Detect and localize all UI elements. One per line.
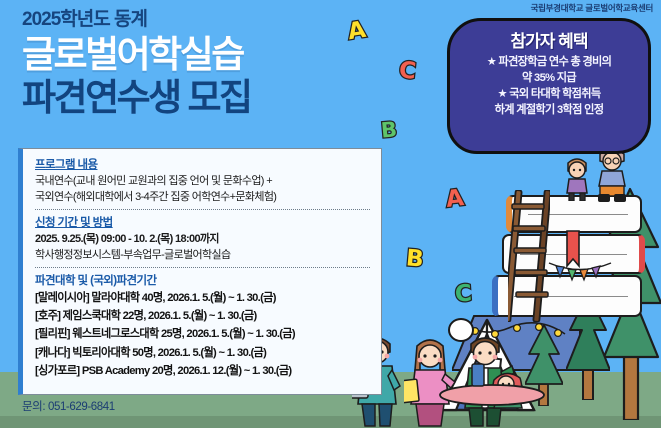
decor-letter-b-green: B — [380, 119, 398, 141]
decor-letter-b-yellow: B — [405, 247, 424, 271]
section-application: 신청 기간 및 방법 2025. 9.25.(목) 09:00 - 10. 2.… — [35, 214, 370, 263]
university-row: [싱가포르] PSB Academy 20명, 2026.1. 12.(월) ~… — [35, 362, 370, 380]
program-heading: 프로그램 내용 — [35, 156, 370, 172]
headline-title-line1: 글로벌어학실습 — [22, 33, 251, 77]
benefits-line-3: ★ 국외 타대학 학점취득 — [458, 87, 640, 103]
benefits-line-1: ★ 파견장학금 연수 총 경비의 — [458, 55, 640, 71]
university-row: [캐나다] 빅토리아대학 50명, 2026.1. 5.(월) ~ 1. 30.… — [35, 344, 370, 362]
application-heading: 신청 기간 및 방법 — [35, 214, 370, 230]
divider-2 — [35, 267, 370, 268]
university-row: [호주] 제임스쿡대학 22명, 2026.1. 5.(월) ~ 1. 30.(… — [35, 307, 370, 325]
cup-icon — [470, 362, 486, 388]
university-row: [말레이시아] 말라야대학 40명, 2026.1. 5.(월) ~ 1. 30… — [35, 289, 370, 307]
program-line-2: 국외연수(해외대학에서 3-4주간 집중 어학연수+문화체험) — [35, 189, 370, 205]
section-dispatch: 파견대학 및 (국외)파견기간 [말레이시아] 말라야대학 40명, 2026.… — [35, 272, 370, 380]
speech-bubble — [448, 318, 474, 342]
decor-letter-c-green: C — [454, 282, 472, 306]
benefits-line-2: 약 35% 지급 — [458, 71, 640, 87]
round-table — [438, 384, 546, 406]
benefits-callout: 참가자 혜택 ★ 파견장학금 연수 총 경비의 약 35% 지급 ★ 국외 타대… — [447, 18, 651, 154]
decor-letter-a-red: A — [445, 187, 465, 212]
sitting-child-figure — [562, 157, 592, 201]
program-line-1: 국내연수(교내 원어민 교원과의 집중 언어 및 문화수업) + — [35, 173, 370, 189]
bunting-flags — [548, 260, 612, 282]
university-row: [필리핀] 웨스트네그로스대학 25명, 2026.1. 5.(월) ~ 1. … — [35, 325, 370, 343]
application-line-2: 학사행정정보시스템-부속업무-글로벌어학실습 — [35, 247, 370, 263]
information-panel: 프로그램 내용 국내연수(교내 원어민 교원과의 집중 언어 및 문화수업) +… — [18, 148, 382, 395]
application-line-1: 2025. 9.25.(목) 09:00 - 10. 2.(목) 18:00까지 — [35, 231, 370, 247]
headline-title-line2: 파견연수생 모집 — [22, 77, 251, 118]
headline-block: 2025학년도 동계 글로벌어학실습 파견연수생 모집 — [22, 10, 251, 118]
divider-1 — [35, 209, 370, 210]
ladder — [508, 190, 550, 322]
organization-header: 국립부경대학교 글로벌어학교육센터 — [531, 2, 653, 14]
decor-letter-c-red: C — [398, 59, 417, 84]
sitting-adult-figure — [592, 148, 632, 204]
poster-canvas: 국립부경대학교 글로벌어학교육센터 2025학년도 동계 글로벌어학실습 파견연… — [0, 0, 661, 428]
person-student-center — [404, 334, 456, 428]
dispatch-heading: 파견대학 및 (국외)파견기간 — [35, 272, 370, 288]
section-program: 프로그램 내용 국내연수(교내 원어민 교원과의 집중 언어 및 문화수업) +… — [35, 156, 370, 205]
headline-kicker: 2025학년도 동계 — [22, 10, 251, 31]
benefits-title: 참가자 혜택 — [458, 27, 640, 52]
ground-strip — [0, 416, 661, 428]
decor-letter-a-yellow: A — [346, 19, 367, 45]
benefits-line-4: 하계 계절학기 3학점 인정 — [458, 103, 640, 119]
contact-info: 문의: 051-629-6841 — [22, 398, 115, 414]
